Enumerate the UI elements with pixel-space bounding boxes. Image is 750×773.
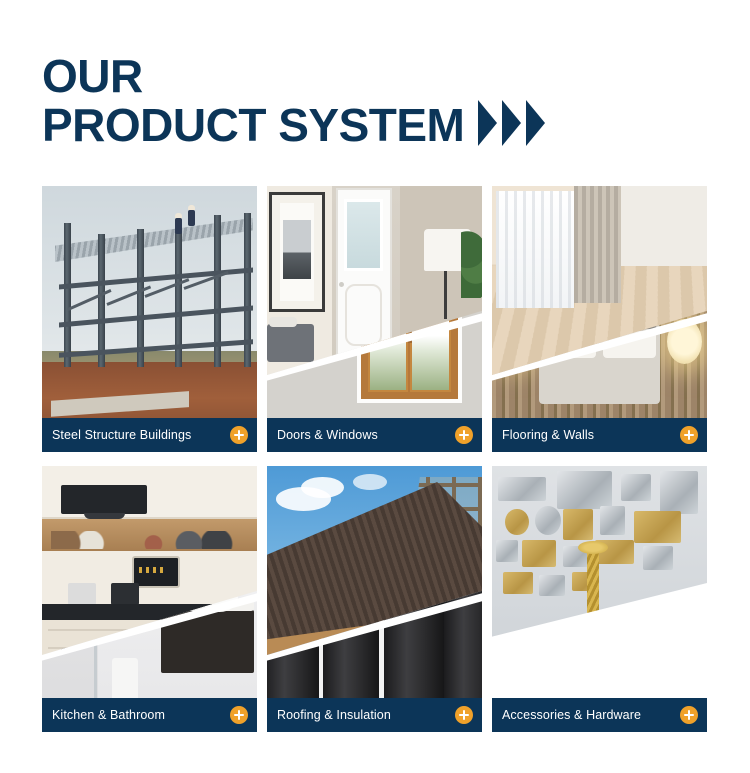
card-label-bar[interactable]: Accessories & Hardware bbox=[492, 698, 707, 732]
plus-icon[interactable] bbox=[680, 706, 698, 724]
card-label-bar[interactable]: Kitchen & Bathroom bbox=[42, 698, 257, 732]
plus-icon[interactable] bbox=[680, 426, 698, 444]
card-image-doors-and-windows bbox=[267, 186, 482, 452]
card-image-kitchen-and-bathroom bbox=[42, 466, 257, 732]
card-label-text: Accessories & Hardware bbox=[502, 708, 680, 722]
card-label-text: Doors & Windows bbox=[277, 428, 455, 442]
page-title-line-1: OUR bbox=[42, 52, 682, 100]
card-image-flooring-and-walls bbox=[492, 186, 707, 452]
chevron-right-icon bbox=[502, 100, 521, 146]
card-image-accessories-and-hardware bbox=[492, 466, 707, 732]
card-label-text: Kitchen & Bathroom bbox=[52, 708, 230, 722]
card-label-bar[interactable]: Steel Structure Buildings bbox=[42, 418, 257, 452]
chevron-right-icon bbox=[526, 100, 545, 146]
plus-icon[interactable] bbox=[455, 706, 473, 724]
chevron-right-icon bbox=[478, 100, 497, 146]
product-card-kitchen-and-bathroom[interactable]: Kitchen & Bathroom bbox=[42, 466, 257, 732]
product-card-steel-structure-buildings[interactable]: Steel Structure Buildings bbox=[42, 186, 257, 452]
product-card-roofing-and-insulation[interactable]: Roofing & Insulation bbox=[267, 466, 482, 732]
card-label-bar[interactable]: Doors & Windows bbox=[267, 418, 482, 452]
card-label-text: Flooring & Walls bbox=[502, 428, 680, 442]
page-header: OUR PRODUCT SYSTEM bbox=[42, 52, 682, 149]
card-label-bar[interactable]: Flooring & Walls bbox=[492, 418, 707, 452]
plus-icon[interactable] bbox=[455, 426, 473, 444]
page-title-line-2: PRODUCT SYSTEM bbox=[42, 101, 464, 149]
plus-icon[interactable] bbox=[230, 426, 248, 444]
card-label-text: Steel Structure Buildings bbox=[52, 428, 230, 442]
plus-icon[interactable] bbox=[230, 706, 248, 724]
page-title: OUR PRODUCT SYSTEM bbox=[42, 52, 682, 149]
card-image-steel-structure-buildings bbox=[42, 186, 257, 452]
product-card-doors-and-windows[interactable]: Doors & Windows bbox=[267, 186, 482, 452]
card-image-roofing-and-insulation bbox=[267, 466, 482, 732]
chevron-group bbox=[478, 100, 545, 146]
product-card-flooring-and-walls[interactable]: Flooring & Walls bbox=[492, 186, 707, 452]
product-category-grid: Steel Structure Buildings bbox=[42, 186, 708, 732]
product-card-accessories-and-hardware[interactable]: Accessories & Hardware bbox=[492, 466, 707, 732]
card-label-bar[interactable]: Roofing & Insulation bbox=[267, 698, 482, 732]
card-label-text: Roofing & Insulation bbox=[277, 708, 455, 722]
